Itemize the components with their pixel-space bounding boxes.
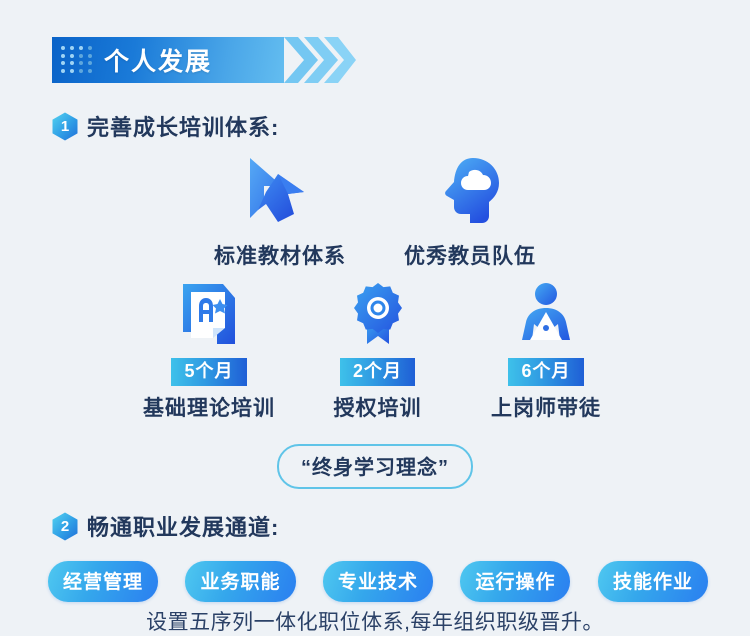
section-heading-1: 1 完善成长培训体系: xyxy=(52,110,279,142)
a-plus-document-icon xyxy=(179,282,239,348)
top-item-label: 标准教材体系 xyxy=(214,240,346,270)
stage-duration-badge: 6个月 xyxy=(508,358,583,386)
stage-label: 授权培训 xyxy=(334,392,422,422)
flag-arrow-icon xyxy=(244,156,316,226)
top-icon-row: 标准教材体系 优秀教员队伍 xyxy=(200,156,550,270)
career-pill-professional-tech[interactable]: 专业技术 xyxy=(323,561,433,602)
training-stage-authorized: 2个月 授权培训 xyxy=(294,282,462,422)
page-header-banner: 个人发展 xyxy=(52,37,284,83)
medal-rosette-icon xyxy=(349,282,407,348)
lifelong-learning-motto: “终身学习理念” xyxy=(277,444,473,489)
top-item-textbook-system: 标准教材体系 xyxy=(200,156,360,270)
banner-body: 个人发展 xyxy=(52,37,284,83)
section-number-1: 1 xyxy=(52,112,78,141)
hexagon-number-badge-1: 1 xyxy=(52,112,78,141)
person-laptop-icon xyxy=(514,282,578,348)
career-pill-business-function[interactable]: 业务职能 xyxy=(185,561,295,602)
career-pill-management[interactable]: 经营管理 xyxy=(48,561,158,602)
footnote-text: 设置五序列一体化职位体系,每年组织职级晋升。 xyxy=(0,606,750,636)
section-title-1: 完善成长培训体系: xyxy=(87,110,279,142)
section-number-2: 2 xyxy=(52,512,78,541)
section-heading-2: 2 畅通职业发展通道: xyxy=(52,510,279,542)
stage-duration-badge: 2个月 xyxy=(340,358,415,386)
head-cloud-brain-icon xyxy=(439,156,501,226)
top-item-label: 优秀教员队伍 xyxy=(404,240,536,270)
chevron-arrows-icon xyxy=(284,37,356,83)
banner-title: 个人发展 xyxy=(104,42,212,78)
stage-duration-badge: 5个月 xyxy=(171,358,246,386)
stage-label: 上岗师带徒 xyxy=(491,392,601,422)
top-item-teacher-team: 优秀教员队伍 xyxy=(390,156,550,270)
section-title-2: 畅通职业发展通道: xyxy=(87,510,279,542)
dot-grid-decoration xyxy=(61,46,95,74)
hexagon-number-badge-2: 2 xyxy=(52,512,78,541)
training-stage-row: 5个月 基础理论培训 2个月 授权培训 xyxy=(125,282,630,422)
career-track-pill-row: 经营管理 业务职能 专业技术 运行操作 技能作业 xyxy=(48,561,708,602)
career-pill-operations[interactable]: 运行操作 xyxy=(460,561,570,602)
training-stage-basic-theory: 5个月 基础理论培训 xyxy=(125,282,293,422)
training-stage-mentorship: 6个月 上岗师带徒 xyxy=(462,282,630,422)
career-pill-skilled-work[interactable]: 技能作业 xyxy=(598,561,708,602)
stage-label: 基础理论培训 xyxy=(143,392,275,422)
